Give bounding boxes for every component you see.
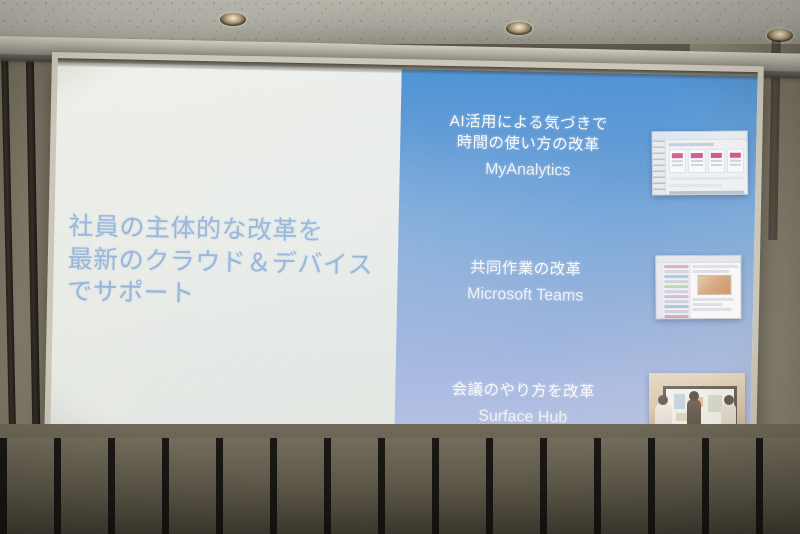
- thumb-message: [692, 303, 722, 306]
- feature-block-myanalytics: AI活用による気づきで 時間の使い方の改革 MyAnalytics: [399, 111, 756, 196]
- feature-block-teams: 共同作業の改革 Microsoft Teams: [397, 245, 754, 320]
- thumb-chat-pane: [690, 263, 740, 319]
- feature-jp-line: 共同作業の改革: [408, 257, 644, 283]
- thumb-main: [666, 140, 747, 196]
- lower-wall: [0, 424, 800, 534]
- thumb-card: [707, 149, 724, 173]
- feature-text: 会議のやり方を改革 Surface Hub: [395, 361, 642, 432]
- ceiling-downlight: [220, 13, 246, 26]
- feature-product-name: Microsoft Teams: [407, 281, 643, 310]
- thumb-message: [692, 270, 729, 273]
- thumb-card-row: [669, 149, 744, 174]
- feature-text: 共同作業の改革 Microsoft Teams: [397, 245, 644, 310]
- thumb-message: [692, 298, 733, 301]
- thumb-nav: [653, 140, 666, 195]
- thumb-row: [669, 184, 722, 187]
- slide-right-panel: AI活用による気づきで 時間の使い方の改革 MyAnalytics: [394, 69, 758, 468]
- conference-room-photo: 社員の主体的な改革を 最新のクラウド＆デバイス でサポート AI活用による気づき…: [0, 0, 800, 534]
- ceiling: [0, 0, 800, 44]
- lower-wall-slats: [0, 438, 800, 534]
- projection-screen: 社員の主体的な改革を 最新のクラウド＆デバイス でサポート AI活用による気づき…: [44, 52, 764, 486]
- feature-product-name: MyAnalytics: [410, 156, 646, 185]
- thumb-footer: [669, 191, 744, 196]
- myanalytics-dashboard-thumbnail: [652, 131, 748, 196]
- thumb-card: [688, 149, 705, 173]
- thumb-heading: [669, 143, 714, 146]
- thumb-channel-list: [663, 263, 690, 319]
- thumb-message-image: [697, 275, 731, 295]
- feature-text: AI活用による気づきで 時間の使い方の改革 MyAnalytics: [400, 111, 647, 185]
- thumb-body: [653, 140, 747, 196]
- presentation-slide: 社員の主体的な改革を 最新のクラウド＆デバイス でサポート AI活用による気づき…: [50, 62, 758, 468]
- ceiling-downlight: [506, 22, 532, 35]
- slide-left-panel: 社員の主体的な改革を 最新のクラウド＆デバイス でサポート: [50, 62, 402, 461]
- thumb-card: [669, 149, 686, 173]
- microsoft-teams-thumbnail: [655, 255, 741, 319]
- thumb-body: [656, 263, 740, 319]
- thumb-card: [727, 149, 744, 173]
- thumb-message: [692, 265, 738, 268]
- slide-headline: 社員の主体的な改革を 最新のクラウド＆デバイス でサポート: [67, 210, 399, 314]
- feature-jp-line: 会議のやり方を改革: [405, 379, 641, 405]
- thumb-row: [669, 177, 744, 181]
- headline-line-3: でサポート: [67, 275, 398, 314]
- thumb-message: [693, 308, 732, 311]
- feature-jp-line: 時間の使い方の改革: [410, 132, 646, 158]
- screen-surface: 社員の主体的な改革を 最新のクラウド＆デバイス でサポート AI活用による気づき…: [50, 62, 758, 468]
